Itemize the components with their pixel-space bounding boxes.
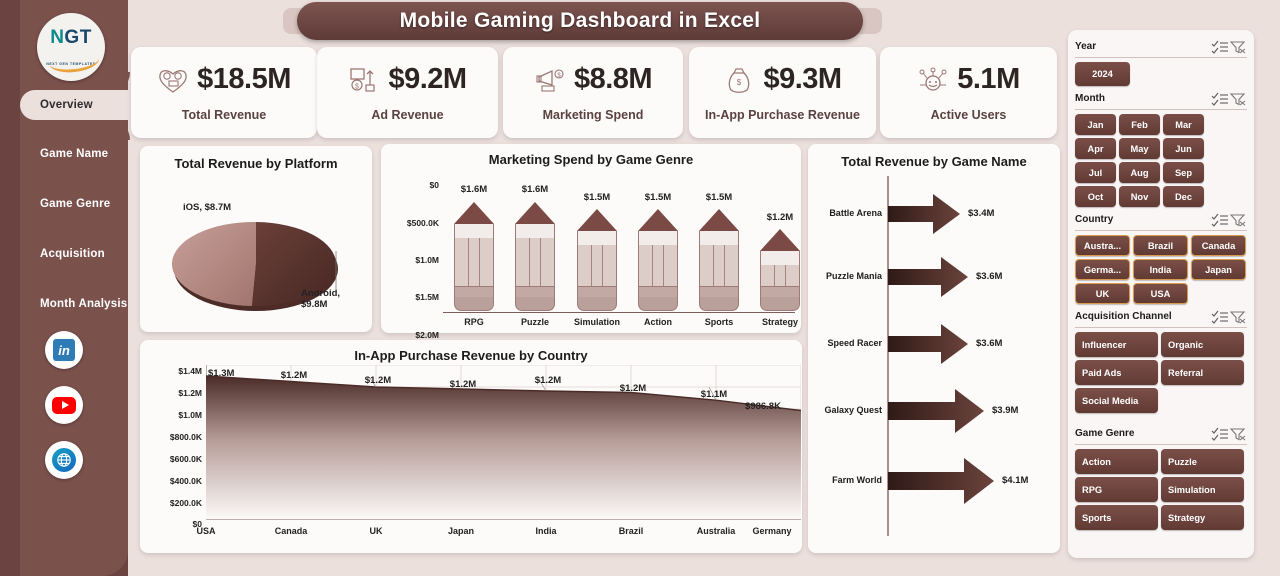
arrow-value-label: $3.6M: [976, 338, 1002, 349]
y-axis-tick: $2.0M: [383, 330, 439, 340]
x-axis-category: USA: [180, 526, 232, 536]
chart-inapp-purchase-by-country: In-App Purchase Revenue by Country $1.4M…: [140, 340, 802, 553]
slicer-chip-germany[interactable]: Germa...: [1075, 259, 1130, 280]
bar-sports[interactable]: [699, 209, 739, 312]
sidebar-item-label: Game Genre: [40, 198, 110, 210]
sidebar-item-acquisition[interactable]: Acquisition: [20, 239, 130, 269]
slicer-title: Month: [1075, 93, 1211, 104]
globe-glyph: [52, 448, 76, 472]
svg-text:$: $: [355, 83, 359, 90]
slicer-chip-sports[interactable]: Sports: [1075, 505, 1158, 530]
clear-filter-icon[interactable]: [1229, 92, 1247, 106]
arrow-category-label: Farm World: [812, 475, 882, 485]
x-axis-category: Strategy: [750, 317, 810, 327]
sidebar: NGT NEXT GEN TEMPLATES Overview Game Nam…: [0, 0, 128, 576]
x-axis-category: Germany: [744, 526, 800, 536]
pie-svg: [140, 176, 372, 336]
pencil-wood: [638, 231, 678, 245]
slicer-chip-rpg[interactable]: RPG: [1075, 477, 1158, 502]
area-value-label: $1.2M: [352, 375, 404, 386]
pencil-tip: [699, 209, 739, 231]
area-value-label: $1.2M: [607, 383, 659, 394]
area-value-label: $986.8K: [732, 401, 794, 412]
pencil-body: [515, 238, 555, 286]
slicer-chip-uk[interactable]: UK: [1075, 283, 1130, 304]
sidebar-item-game-name[interactable]: Game Name: [20, 139, 130, 169]
megaphone-money-icon: $: [534, 65, 566, 95]
bar-value-label: $1.6M: [444, 184, 504, 195]
bar-action[interactable]: [638, 209, 678, 312]
bar-value-label: $1.5M: [689, 192, 749, 203]
kpi-label: Active Users: [931, 108, 1007, 122]
pencil-eraser: [760, 297, 800, 311]
arrow-bar-farm-world: [888, 458, 994, 504]
slicer-chip-strategy[interactable]: Strategy: [1161, 505, 1244, 530]
area-value-label: $1.1M: [688, 389, 740, 400]
arrow-bar-puzzle-mania: [888, 257, 968, 297]
x-axis-category: Australia: [688, 526, 744, 536]
kpi-card-active-users[interactable]: 5.1M Active Users: [880, 47, 1057, 138]
arrow-value-label: $3.9M: [992, 405, 1018, 416]
x-axis-category: Puzzle: [505, 317, 565, 327]
bar-strategy[interactable]: [760, 229, 800, 312]
pencil-body: [699, 245, 739, 286]
y-axis-tick: $500.0K: [383, 218, 439, 228]
slicer-chip-action[interactable]: Action: [1075, 449, 1158, 474]
y-axis-tick: $200.0K: [140, 498, 202, 508]
pencil-wood: [577, 231, 617, 245]
kpi-card-marketing-spend[interactable]: $ $8.8M Marketing Spend: [503, 47, 683, 138]
y-axis-tick: $1.4M: [140, 366, 202, 376]
slicer-divider: [1075, 444, 1247, 445]
pencil-ferrule: [515, 286, 555, 297]
slicer-month: Month Jan Feb Mar Apr May: [1075, 90, 1247, 207]
slicer-chip-oct[interactable]: Oct: [1075, 186, 1116, 207]
x-axis-category: RPG: [444, 317, 504, 327]
slicer-chip-canada[interactable]: Canada: [1191, 235, 1246, 256]
slicer-title: Country: [1075, 214, 1211, 225]
logo-letter-g: G: [64, 27, 79, 48]
pie-label-android: Android, $9.8M: [301, 288, 369, 310]
kpi-label: Ad Revenue: [371, 108, 443, 122]
clear-filter-icon[interactable]: [1229, 310, 1247, 324]
slicer-title: Year: [1075, 41, 1211, 52]
clear-filter-icon[interactable]: [1229, 40, 1247, 54]
page-title-text: Mobile Gaming Dashboard in Excel: [400, 9, 761, 33]
multi-select-icon[interactable]: [1211, 427, 1229, 441]
slicer-header: Country: [1075, 211, 1247, 228]
kpi-label: In-App Purchase Revenue: [705, 108, 860, 122]
area-value-label: $1.2M: [268, 370, 320, 381]
arrow-value-label: $3.6M: [976, 271, 1002, 282]
chart-marketing-spend-by-genre: Marketing Spend by Game Genre $2.0M $1.5…: [381, 144, 801, 333]
slicer-chip-influencer[interactable]: Influencer: [1075, 332, 1158, 357]
arrow-bar-speed-racer: [888, 324, 968, 364]
multi-select-icon[interactable]: [1211, 40, 1229, 54]
bar-value-label: $1.5M: [628, 192, 688, 203]
chart-title: In-App Purchase Revenue by Country: [140, 348, 802, 363]
pencil-eraser: [699, 297, 739, 311]
slicer-chip-referral[interactable]: Referral: [1161, 360, 1244, 385]
slicer-chip-aug[interactable]: Aug: [1119, 162, 1160, 183]
slicer-options-country: Austra... Brazil Canada Germa... India J…: [1075, 235, 1247, 304]
slicer-acquisition-channel: Acquisition Channel Influencer Organic P…: [1075, 308, 1247, 413]
x-axis-category: Sports: [689, 317, 749, 327]
pie-label-ios: iOS, $8.7M: [183, 202, 231, 213]
linkedin-icon[interactable]: in: [45, 331, 83, 369]
slicer-chip-puzzle[interactable]: Puzzle: [1161, 449, 1244, 474]
money-bag-icon: $: [723, 65, 755, 95]
y-axis-tick: $800.0K: [140, 432, 202, 442]
pencil-eraser: [638, 297, 678, 311]
bar-value-label: $1.6M: [505, 184, 565, 195]
pencil-eraser: [577, 297, 617, 311]
sidebar-item-game-genre[interactable]: Game Genre: [20, 189, 130, 219]
slicer-chip-usa[interactable]: USA: [1133, 283, 1188, 304]
area-value-label: $1.2M: [437, 379, 489, 390]
user-network-icon: [917, 65, 949, 95]
slicer-chip-jan[interactable]: Jan: [1075, 114, 1116, 135]
kpi-value: $9.2M: [388, 63, 466, 96]
y-axis-tick: $1.0M: [383, 255, 439, 265]
slicer-chip-paid-ads[interactable]: Paid Ads: [1075, 360, 1158, 385]
bar-simulation[interactable]: [577, 209, 617, 312]
logo-letter-n: N: [50, 27, 64, 48]
pencil-body: [638, 245, 678, 286]
slicer-country: Country Austra... Brazil Canada Ge: [1075, 211, 1247, 304]
area-value-label: $1.3M: [208, 368, 254, 379]
pencil-tip: [760, 229, 800, 251]
bar-puzzle[interactable]: [515, 202, 555, 312]
multi-select-icon[interactable]: [1211, 310, 1229, 324]
arrow-category-label: Speed Racer: [812, 338, 882, 348]
slicer-divider: [1075, 109, 1247, 110]
arrow-category-label: Puzzle Mania: [812, 271, 882, 281]
kpi-card-total-revenue[interactable]: $18.5M Total Revenue: [131, 47, 317, 138]
chart-title: Marketing Spend by Game Genre: [381, 152, 801, 167]
pencil-ferrule: [760, 286, 800, 297]
svg-text:$: $: [737, 78, 742, 87]
slicer-chip-jun[interactable]: Jun: [1163, 138, 1204, 159]
pie-chart-area: iOS, $8.7M Android, $9.8M: [140, 146, 372, 332]
arrow-category-label: Galaxy Quest: [812, 405, 882, 415]
youtube-icon[interactable]: [45, 386, 83, 424]
sidebar-item-label: Overview: [40, 99, 93, 111]
sidebar-item-label: Acquisition: [40, 248, 105, 260]
slicer-chip-organic[interactable]: Organic: [1161, 332, 1244, 357]
y-axis-tick: $600.0K: [140, 454, 202, 464]
y-axis-tick: $400.0K: [140, 476, 202, 486]
pencil-tip: [454, 202, 494, 224]
sidebar-item-label: Game Name: [40, 148, 108, 160]
website-icon[interactable]: [45, 441, 83, 479]
slicer-header: Acquisition Channel: [1075, 308, 1247, 325]
slicer-chip-simulation[interactable]: Simulation: [1161, 477, 1244, 502]
slicer-header: Month: [1075, 90, 1247, 107]
pencil-wood: [515, 224, 555, 238]
sidebar-item-month-analysis[interactable]: Month Analysis: [20, 289, 130, 319]
kpi-value: $9.3M: [763, 63, 841, 96]
kpi-label: Marketing Spend: [543, 108, 644, 122]
pencil-eraser: [515, 297, 555, 311]
clear-filter-icon[interactable]: [1229, 427, 1247, 441]
pencil-ferrule: [699, 286, 739, 297]
slicer-divider: [1075, 230, 1247, 231]
ad-money-icon: $: [348, 65, 380, 95]
money-heart-icon: [157, 65, 189, 95]
chart-total-revenue-by-game-name: Total Revenue by Game Name: [808, 144, 1060, 553]
slicer-year: Year 2024: [1075, 38, 1247, 86]
x-axis-category: Japan: [435, 526, 487, 536]
slicer-chip-feb[interactable]: Feb: [1119, 114, 1160, 135]
slicer-header: Year: [1075, 38, 1247, 55]
clear-filter-icon[interactable]: [1229, 213, 1247, 227]
slicer-title: Game Genre: [1075, 428, 1211, 439]
multi-select-icon[interactable]: [1211, 92, 1229, 106]
x-axis-category: Canada: [265, 526, 317, 536]
slicer-options-genre: Action Puzzle RPG Simulation Sports Stra…: [1075, 449, 1247, 530]
x-axis-line: [443, 312, 795, 313]
arrow-chart-svg: [808, 166, 1060, 546]
kpi-value: $8.8M: [574, 63, 652, 96]
pencil-wood: [760, 251, 800, 265]
slicer-chip-india[interactable]: India: [1133, 259, 1188, 280]
kpi-card-ad-revenue[interactable]: $ $9.2M Ad Revenue: [317, 47, 498, 138]
pencil-tip: [638, 209, 678, 231]
slicer-chip-apr[interactable]: Apr: [1075, 138, 1116, 159]
pencil-body: [760, 265, 800, 286]
slicer-chip-dec[interactable]: Dec: [1163, 186, 1204, 207]
sidebar-item-label: Month Analysis: [40, 298, 127, 310]
multi-select-icon[interactable]: [1211, 213, 1229, 227]
slicer-divider: [1075, 327, 1247, 328]
slicer-chip-2024[interactable]: 2024: [1075, 62, 1130, 86]
y-axis-tick: $1.5M: [383, 292, 439, 302]
pencil-wood: [699, 231, 739, 245]
slicer-chip-brazil[interactable]: Brazil: [1133, 235, 1188, 256]
slicer-chip-nov[interactable]: Nov: [1119, 186, 1160, 207]
pencil-ferrule: [638, 286, 678, 297]
arrow-value-label: $3.4M: [968, 208, 994, 219]
slicer-chip-jul[interactable]: Jul: [1075, 162, 1116, 183]
slicer-chip-australia[interactable]: Austra...: [1075, 235, 1130, 256]
x-axis-category: Action: [628, 317, 688, 327]
pencil-body: [454, 238, 494, 286]
y-axis-tick: $1.2M: [140, 388, 202, 398]
slicer-divider: [1075, 57, 1247, 58]
chart-total-revenue-by-platform: Total Revenue by Platform: [140, 146, 372, 332]
x-axis-category: Simulation: [567, 317, 627, 327]
logo-swoosh-icon: [50, 58, 101, 75]
slicer-title: Acquisition Channel: [1075, 311, 1211, 322]
arrow-category-label: Battle Arena: [812, 208, 882, 218]
brand-logo: NGT NEXT GEN TEMPLATES: [37, 13, 105, 81]
bar-rpg[interactable]: [454, 202, 494, 312]
pencil-body: [577, 245, 617, 286]
slicer-chip-japan[interactable]: Japan: [1191, 259, 1246, 280]
kpi-value: $18.5M: [197, 63, 291, 96]
slicer-chip-may[interactable]: May: [1119, 138, 1160, 159]
y-axis-tick: $1.0M: [140, 410, 202, 420]
pencil-ferrule: [454, 286, 494, 297]
page-title: Mobile Gaming Dashboard in Excel: [297, 2, 863, 40]
pie-label-android-text: Android, $9.8M: [301, 288, 340, 310]
slicer-options-acquisition: Influencer Organic Paid Ads Referral Soc…: [1075, 332, 1247, 413]
sidebar-item-overview[interactable]: Overview: [20, 90, 132, 120]
slicer-header: Game Genre: [1075, 425, 1247, 442]
slicer-chip-mar[interactable]: Mar: [1163, 114, 1204, 135]
arrow-value-label: $4.1M: [1002, 475, 1028, 486]
slicer-options-year: 2024: [1075, 62, 1247, 86]
bar-value-label: $1.2M: [750, 212, 810, 223]
slicer-game-genre: Game Genre Action Puzzle RPG Simul: [1075, 425, 1247, 530]
y-axis-tick: $0: [383, 180, 439, 190]
pencil-wood: [454, 224, 494, 238]
kpi-value: 5.1M: [957, 63, 1019, 96]
pencil-ferrule: [577, 286, 617, 297]
kpi-card-inapp-purchase-revenue[interactable]: $ $9.3M In-App Purchase Revenue: [689, 47, 876, 138]
area-value-label: $1.2M: [522, 375, 574, 386]
arrow-bar-galaxy-quest: [888, 389, 984, 433]
slicer-options-month: Jan Feb Mar Apr May Jun Jul Aug Sep Oct …: [1075, 114, 1247, 207]
arrow-bar-battle-arena: [888, 194, 960, 234]
x-axis-category: India: [520, 526, 572, 536]
slicer-chip-sep[interactable]: Sep: [1163, 162, 1204, 183]
bar-value-label: $1.5M: [567, 192, 627, 203]
pencil-tip: [577, 209, 617, 231]
linkedin-glyph: in: [53, 339, 75, 361]
youtube-glyph: [52, 397, 76, 414]
kpi-label: Total Revenue: [182, 108, 267, 122]
x-axis-category: UK: [350, 526, 402, 536]
slicer-chip-social-media[interactable]: Social Media: [1075, 388, 1158, 413]
filter-panel: Year 2024 Month: [1068, 30, 1254, 558]
logo-letter-t: T: [80, 27, 92, 48]
x-axis-category: Brazil: [605, 526, 657, 536]
pencil-eraser: [454, 297, 494, 311]
pencil-tip: [515, 202, 555, 224]
dashboard-root: NGT NEXT GEN TEMPLATES Overview Game Nam…: [0, 0, 1280, 576]
